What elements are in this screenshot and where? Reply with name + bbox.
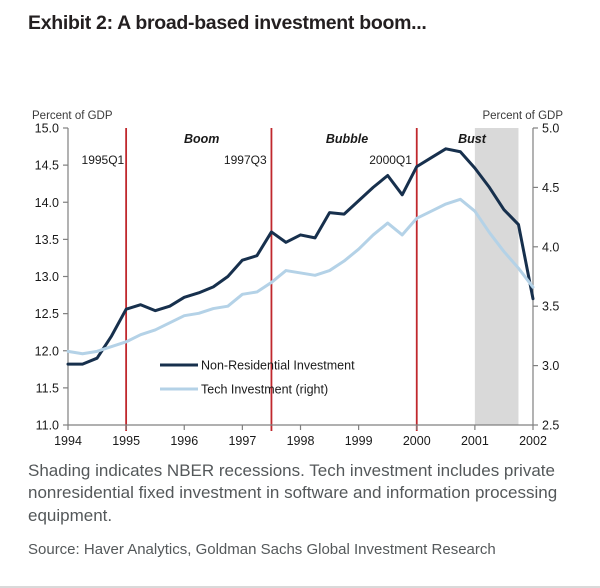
y-tick-label-left: 12.5 — [35, 307, 59, 321]
phase-label-bust: Bust — [458, 132, 487, 146]
y-tick-label-left: 14.0 — [35, 196, 59, 210]
y-tick-label-right: 4.0 — [542, 240, 559, 254]
legend-label: Tech Investment (right) — [201, 383, 328, 397]
y-tick-label-left: 12.0 — [35, 344, 59, 358]
legend-label: Non-Residential Investment — [201, 359, 355, 373]
x-tick-label: 1999 — [345, 434, 373, 448]
chart-legend: Non-Residential InvestmentTech Investmen… — [160, 359, 355, 397]
y-tick-label-left: 13.0 — [35, 270, 59, 284]
date-label-1995q1: 1995Q1 — [82, 153, 125, 167]
chart-footnote: Shading indicates NBER recessions. Tech … — [28, 460, 584, 527]
y-tick-label-left: 11.5 — [36, 381, 59, 395]
chart-page: Exhibit 2: A broad-based investment boom… — [0, 0, 600, 588]
recession-shading-group — [475, 128, 519, 425]
series-line-non-residential-investment — [68, 149, 533, 364]
y-axis-unit-left: Percent of GDP — [32, 110, 113, 122]
investment-line-chart: 11.011.512.012.513.013.514.014.515.02.53… — [0, 100, 600, 455]
chart-plot-container: 11.011.512.012.513.013.514.014.515.02.53… — [0, 100, 600, 455]
data-series-group — [68, 149, 533, 364]
y-tick-label-left: 15.0 — [35, 122, 59, 136]
chart-source: Source: Haver Analytics, Goldman Sachs G… — [28, 541, 584, 559]
y-tick-label-left: 13.5 — [35, 233, 59, 247]
y-tick-label-left: 11.0 — [36, 419, 59, 433]
series-line-tech-investment-right — [68, 199, 533, 353]
y-tick-label-left: 14.5 — [35, 159, 59, 173]
y-tick-label-right: 4.5 — [542, 181, 559, 195]
x-tick-label: 1998 — [287, 434, 315, 448]
phase-label-bubble: Bubble — [326, 132, 368, 146]
recession-band — [475, 128, 519, 425]
y-tick-label-right: 5.0 — [542, 122, 559, 136]
x-tick-label: 1996 — [170, 434, 198, 448]
x-tick-label: 1994 — [54, 434, 82, 448]
x-tick-label: 2000 — [403, 434, 431, 448]
x-tick-label: 2001 — [461, 434, 489, 448]
y-tick-label-right: 2.5 — [542, 419, 559, 433]
date-label-2000q1: 2000Q1 — [369, 153, 412, 167]
y-tick-label-right: 3.0 — [542, 359, 559, 373]
x-tick-label: 1995 — [112, 434, 140, 448]
page-title: Exhibit 2: A broad-based investment boom… — [28, 12, 588, 35]
x-tick-label: 1997 — [228, 434, 256, 448]
y-axis-unit-right: Percent of GDP — [482, 110, 563, 122]
phase-label-boom: Boom — [184, 132, 219, 146]
date-label-1997q3: 1997Q3 — [224, 153, 267, 167]
x-tick-label: 2002 — [519, 434, 547, 448]
y-tick-label-right: 3.5 — [542, 300, 559, 314]
